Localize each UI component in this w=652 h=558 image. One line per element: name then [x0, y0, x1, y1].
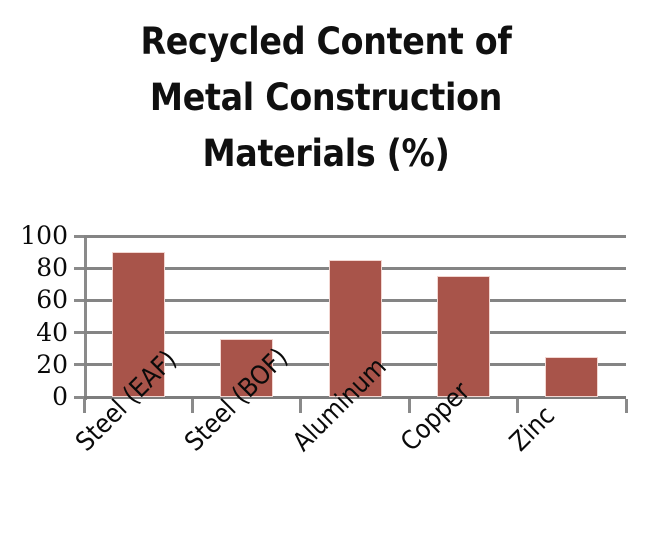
x-axis-tick-label: Steel (EAF)	[72, 346, 182, 456]
x-axis-tick-label: Steel (BOF)	[180, 344, 292, 456]
x-axis-tick-label: Copper	[397, 378, 475, 456]
x-axis-labels: Steel (EAF)Steel (BOF)AluminumCopperZinc	[0, 0, 652, 558]
bar-chart: Recycled Content of Metal Construction M…	[0, 0, 652, 558]
x-axis-tick-label: Zinc	[505, 402, 559, 456]
x-axis-tick-label: Aluminum	[289, 353, 392, 456]
